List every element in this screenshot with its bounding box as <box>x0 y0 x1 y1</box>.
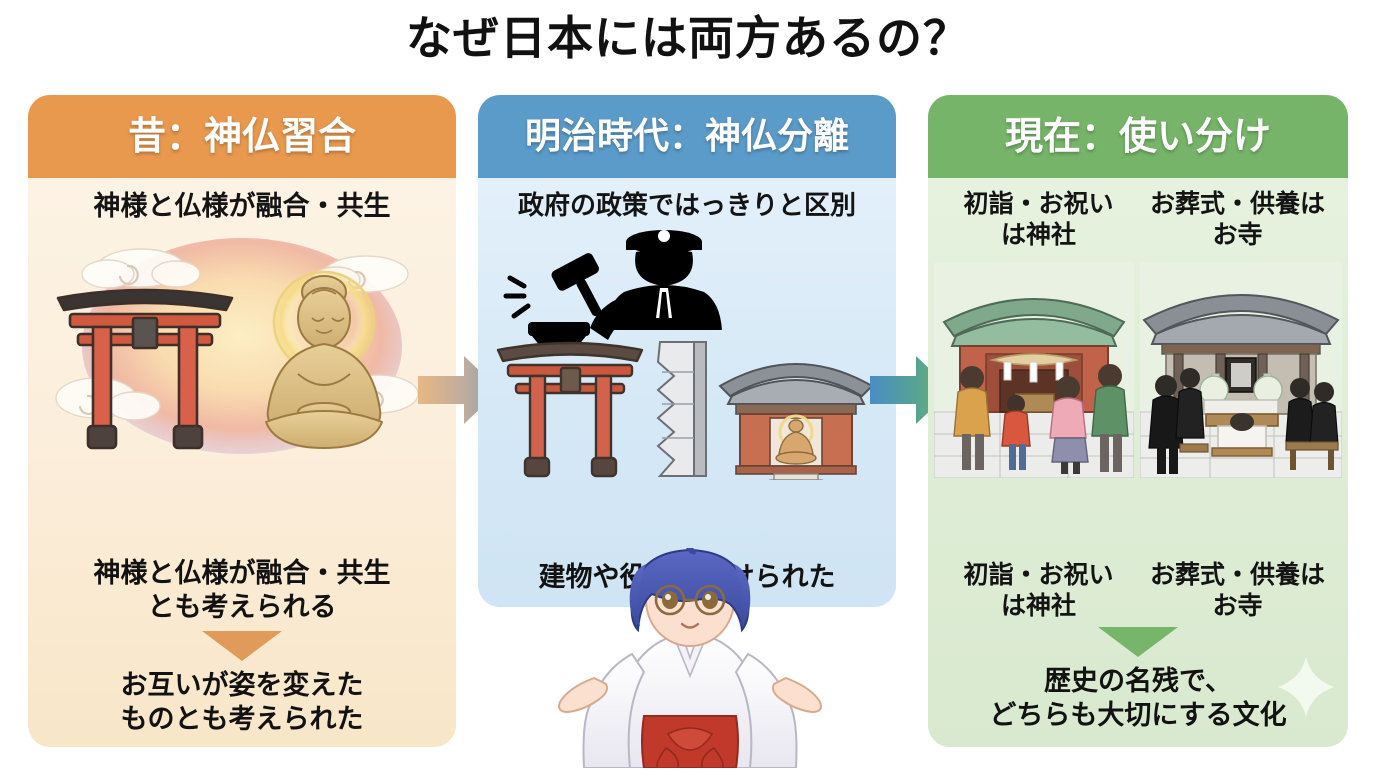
panel-now: 現在：使い分け 初詣・お祝い は神社 お葬式・供養は お寺 <box>928 95 1348 747</box>
now-repeat-left-line-1: 初詣・お祝い <box>944 559 1133 590</box>
shrine-visit-illustration <box>934 262 1134 478</box>
now-repeat-right: お葬式・供養は お寺 <box>1143 559 1332 621</box>
now-repeat-left: 初詣・お祝い は神社 <box>944 559 1133 621</box>
panel-now-repeat-captions: 初詣・お祝い は神社 お葬式・供養は お寺 <box>928 549 1348 621</box>
panel-meiji-body: 政府の政策ではっきりと区別 <box>478 178 896 607</box>
temple-funeral-illustration <box>1140 262 1342 478</box>
kimono-girl-mascot <box>536 548 844 768</box>
now-caption-right: お葬式・供養は お寺 <box>1143 188 1332 250</box>
panel-meiji-header: 明治時代：神仏分離 <box>478 95 896 178</box>
now-caption-left-line-1: 初詣・お祝い <box>944 188 1133 219</box>
now-caption-right-line-1: お葬式・供養は <box>1143 188 1332 219</box>
past-result-line-2: ものとも考えられた <box>28 703 456 737</box>
now-repeat-right-line-2: お寺 <box>1143 590 1332 621</box>
now-repeat-left-line-2: は神社 <box>944 590 1133 621</box>
official-torii-wall-temple-illustration <box>484 230 890 480</box>
panel-now-captions: 初詣・お祝い は神社 お葬式・供養は お寺 <box>928 178 1348 250</box>
past-conclusion-line-1: 神様と仏様が融合・共生 <box>28 557 456 591</box>
now-caption-left-line-2: は神社 <box>944 219 1133 250</box>
panel-past-body: 神様と仏様が融合・共生 <box>28 178 456 747</box>
down-arrow-icon <box>1098 627 1178 657</box>
page-title: なぜ日本には両方あるの？ <box>0 8 1376 68</box>
now-repeat-right-line-1: お葬式・供養は <box>1143 559 1332 590</box>
sparkle-icon <box>1278 657 1334 721</box>
panel-meiji-caption: 政府の政策ではっきりと区別 <box>478 178 896 223</box>
past-conclusion-line-2: とも考えられる <box>28 591 456 625</box>
infographic-canvas: なぜ日本には両方あるの？ 昔：神仏習合 神様と仏様が融合・共生 <box>0 0 1376 768</box>
panel-now-header: 現在：使い分け <box>928 95 1348 178</box>
panel-now-body: 初詣・お祝い は神社 お葬式・供養は お寺 <box>928 178 1348 747</box>
down-arrow-icon <box>202 631 282 661</box>
torii-and-buddha-illustration <box>36 226 448 476</box>
panel-meiji: 明治時代：神仏分離 政府の政策ではっきりと区別 <box>478 95 896 607</box>
panel-past: 昔：神仏習合 神様と仏様が融合・共生 <box>28 95 456 747</box>
now-caption-left: 初詣・お祝い は神社 <box>944 188 1133 250</box>
now-caption-right-line-2: お寺 <box>1143 219 1332 250</box>
panel-past-caption: 神様と仏様が融合・共生 <box>28 178 456 223</box>
past-result-line-1: お互いが姿を変えた <box>28 669 456 703</box>
panel-past-conclusion: 神様と仏様が融合・共生 とも考えられる お互いが姿を変えた ものとも考えられた <box>28 557 456 737</box>
panel-past-header: 昔：神仏習合 <box>28 95 456 178</box>
